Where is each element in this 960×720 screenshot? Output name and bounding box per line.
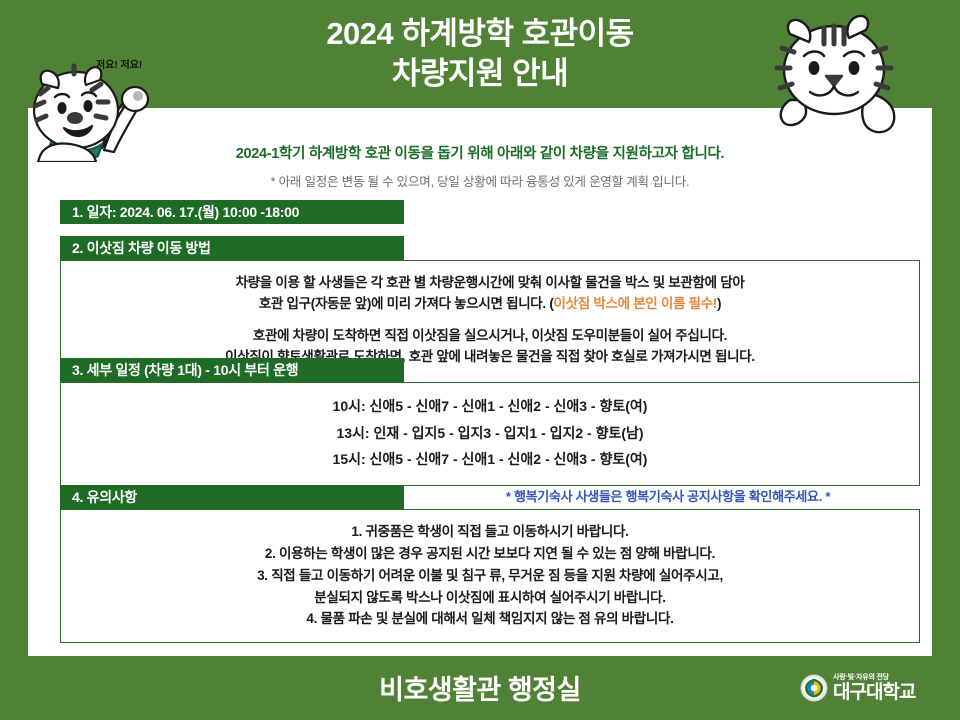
content-card: 2024-1학기 하계방학 호관 이동을 돕기 위해 아래와 같이 차량을 지원… <box>28 108 932 656</box>
header-band: 2024 하계방학 호관이동 차량지원 안내 <box>0 0 960 108</box>
method-paragraph-1: 차량을 이용 할 사생들은 각 호관 별 차량운행시간에 맞춰 이사할 물건을 … <box>75 273 905 315</box>
university-logo: 사랑·빛·자유의 전당 대구대학교 <box>800 668 940 708</box>
section-notices-heading-row: 4. 유의사항 * 행복기숙사 사생들은 행복기숙사 공지사항을 확인해주세요.… <box>60 485 920 509</box>
university-name: 대구대학교 <box>833 683 915 702</box>
notice-item: 2. 이용하는 학생이 많은 경우 공지된 시간 보보다 지연 될 수 있는 점… <box>75 543 905 565</box>
section-method-heading: 2. 이삿짐 차량 이동 방법 <box>60 236 404 260</box>
notice-item: 3. 직접 들고 이동하기 어려운 이불 및 침구 류, 무거운 짐 등을 지원… <box>75 565 905 587</box>
schedule-row: 15시: 신애5 - 신애7 - 신애1 - 신애2 - 신애3 - 향토(여) <box>75 446 905 473</box>
section-notices: 4. 유의사항 * 행복기숙사 사생들은 행복기숙사 공지사항을 확인해주세요.… <box>60 485 920 643</box>
university-logo-text: 사랑·빛·자유의 전당 대구대학교 <box>833 674 915 702</box>
section-schedule-body: 10시: 신애5 - 신애7 - 신애1 - 신애2 - 신애3 - 향토(여)… <box>60 382 920 486</box>
university-tagline: 사랑·빛·자유의 전당 <box>833 674 915 681</box>
notice-item-text: 3. 직접 들고 이동하기 어려운 이불 및 침구 류, 무거운 짐 등을 지원… <box>257 568 723 583</box>
method-line-2: 호관 입구(자동문 앞)에 미리 가져다 놓으시면 됩니다. (이삿짐 박스에 … <box>75 294 905 315</box>
method-line-1: 차량을 이용 할 사생들은 각 호관 별 차량운행시간에 맞춰 이사할 물건을 … <box>75 273 905 294</box>
method-line-2-tail: ) <box>717 296 721 311</box>
page-title: 2024 하계방학 호관이동 차량지원 안내 <box>0 14 960 93</box>
method-line-2-text: 호관 입구(자동문 앞)에 미리 가져다 놓으시면 됩니다. ( <box>259 296 554 311</box>
poster-root: 2024 하계방학 호관이동 차량지원 안내 <box>0 0 960 720</box>
method-line-2-highlight: 이삿짐 박스에 본인 이름 필수! <box>554 296 717 311</box>
section-schedule: 3. 세부 일정 (차량 1대) - 10시 부터 운행 10시: 신애5 - … <box>60 358 920 486</box>
notice-item: 1. 귀중품은 학생이 직접 들고 이동하시기 바랍니다. <box>75 521 905 543</box>
section-schedule-heading: 3. 세부 일정 (차량 1대) - 10시 부터 운행 <box>60 358 404 382</box>
section-date: 1. 일자: 2024. 06. 17.(월) 10:00 -18:00 <box>60 200 920 224</box>
schedule-row: 10시: 신애5 - 신애7 - 신애1 - 신애2 - 신애3 - 향토(여) <box>75 393 905 420</box>
intro-line-secondary: * 아래 일정은 변동 될 수 있으며, 당일 상황에 따라 융통성 있게 운영… <box>28 171 932 190</box>
notice-item: 4. 물품 파손 및 분실에 대해서 일체 책임지지 않는 점 유의 바랍니다. <box>75 608 905 630</box>
notice-item-highlight: 분실되지 않도록 박스나 이삿짐에 표시하여 실어주시기 바랍니다. <box>75 587 905 609</box>
section-notices-heading: 4. 유의사항 <box>60 485 404 509</box>
schedule-row: 13시: 인재 - 입지5 - 입지3 - 입지1 - 입지2 - 향토(남) <box>75 420 905 447</box>
university-emblem-icon <box>800 674 828 702</box>
mascot-speech-text: 저요! 저요! <box>96 56 142 71</box>
method-line-3: 호관에 차량이 도착하면 직접 이삿짐을 실으시거나, 이삿짐 도우미분들이 실… <box>75 326 905 347</box>
section-notices-body: 1. 귀중품은 학생이 직접 들고 이동하시기 바랍니다. 2. 이용하는 학생… <box>60 509 920 643</box>
section-notices-sidenote: * 행복기숙사 사생들은 행복기숙사 공지사항을 확인해주세요. * <box>416 485 920 509</box>
intro-line-primary: 2024-1학기 하계방학 호관 이동을 돕기 위해 아래와 같이 차량을 지원… <box>28 142 932 163</box>
section-date-heading: 1. 일자: 2024. 06. 17.(월) 10:00 -18:00 <box>60 200 404 224</box>
